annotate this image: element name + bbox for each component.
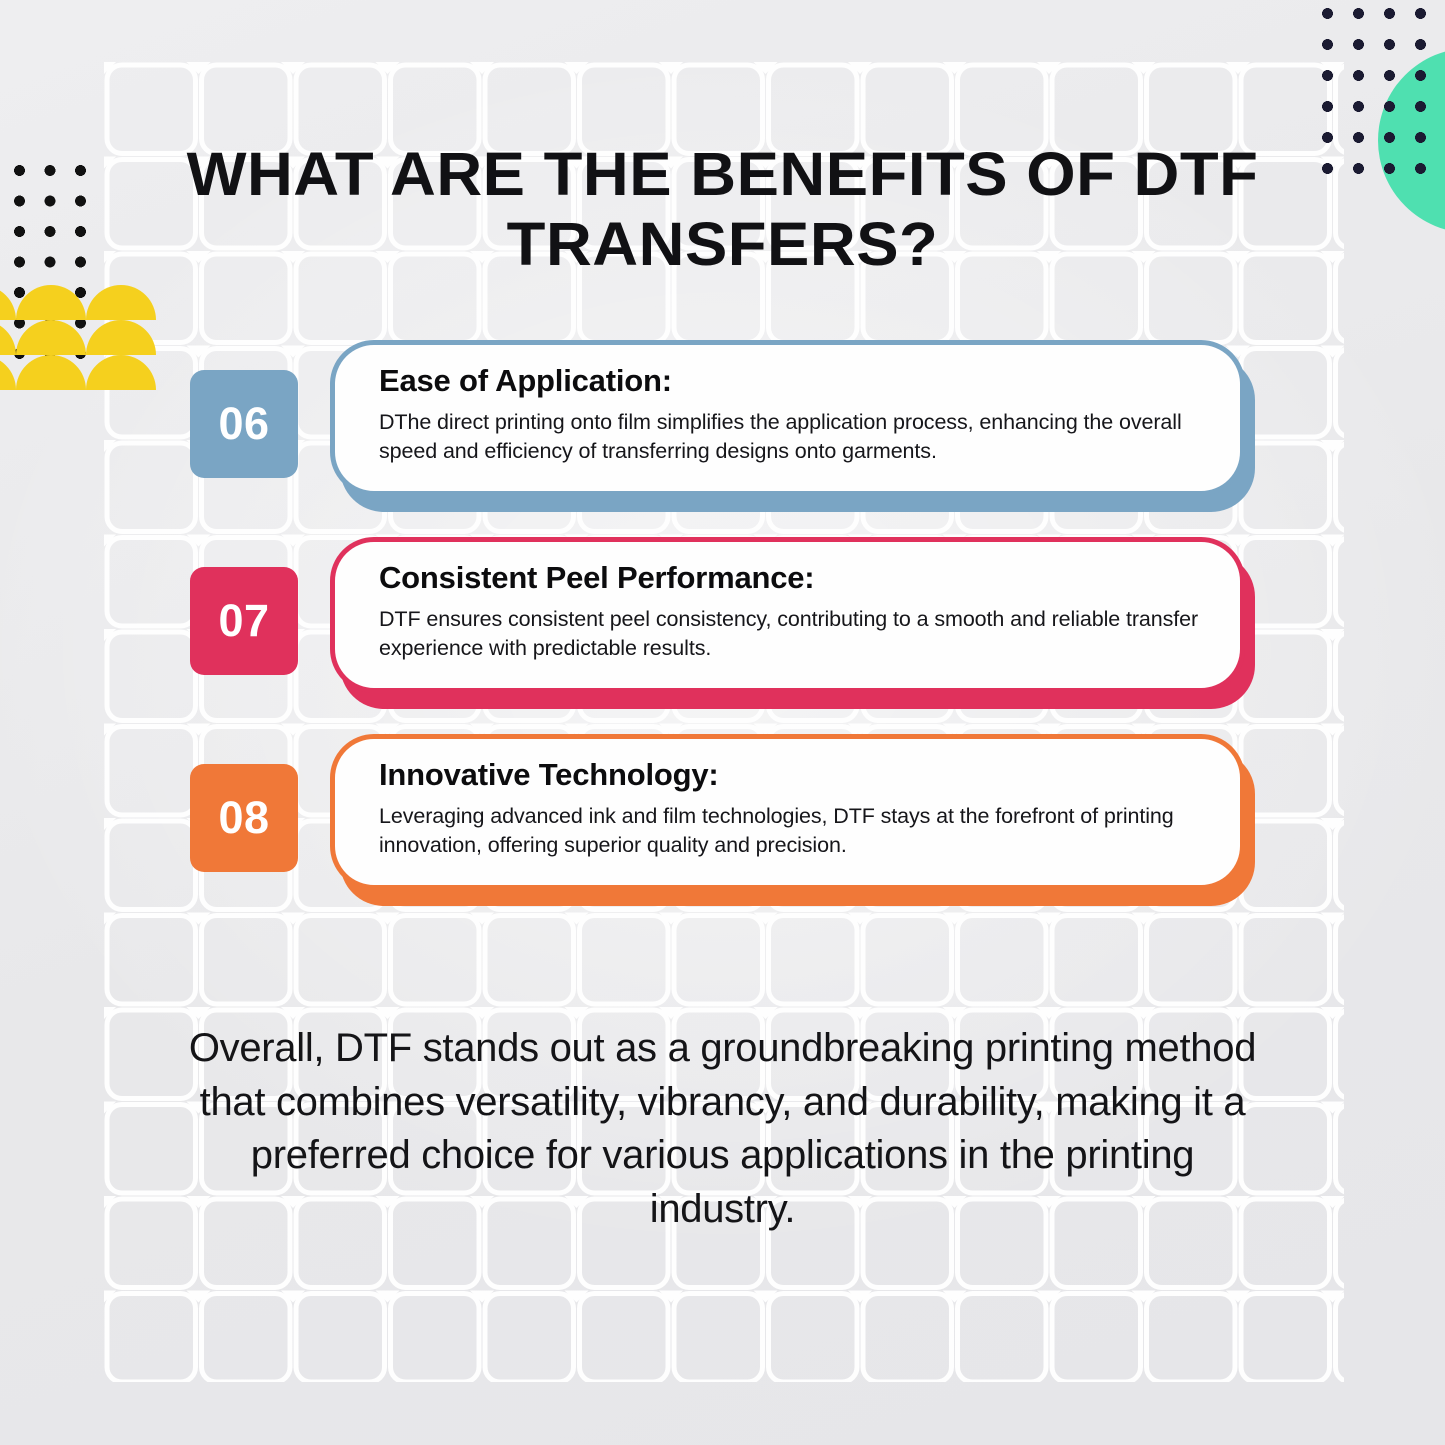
- card-bubble-06: Ease of Application: DThe direct printin…: [330, 340, 1255, 512]
- card-title: Consistent Peel Performance:: [379, 560, 1206, 596]
- card-bubble-08: Innovative Technology: Leveraging advanc…: [330, 734, 1255, 906]
- benefit-card-list: 06 Ease of Application: DThe direct prin…: [190, 340, 1270, 931]
- teal-circle-decoration: [1378, 48, 1445, 233]
- card-number-badge-06: 06: [190, 370, 298, 478]
- card-body-container: Consistent Peel Performance: DTF ensures…: [330, 537, 1245, 693]
- yellow-arch-decoration: [0, 285, 154, 390]
- card-number-badge-08: 08: [190, 764, 298, 872]
- page-title: WHAT ARE THE BENEFITS OF DTF TRANSFERS?: [138, 140, 1308, 279]
- card-description: Leveraging advanced ink and film technol…: [379, 802, 1206, 860]
- card-title: Innovative Technology:: [379, 757, 1206, 793]
- card-number-badge-07: 07: [190, 567, 298, 675]
- card-bubble-07: Consistent Peel Performance: DTF ensures…: [330, 537, 1255, 709]
- infographic-poster: WHAT ARE THE BENEFITS OF DTF TRANSFERS? …: [0, 0, 1445, 1445]
- card-description: DThe direct printing onto film simplifie…: [379, 408, 1206, 466]
- conclusion-paragraph: Overall, DTF stands out as a groundbreak…: [175, 1022, 1270, 1236]
- card-body-container: Innovative Technology: Leveraging advanc…: [330, 734, 1245, 890]
- benefit-card: 08 Innovative Technology: Leveraging adv…: [190, 734, 1270, 931]
- card-description: DTF ensures consistent peel consistency,…: [379, 605, 1206, 663]
- card-title: Ease of Application:: [379, 363, 1206, 399]
- card-body-container: Ease of Application: DThe direct printin…: [330, 340, 1245, 496]
- benefit-card: 06 Ease of Application: DThe direct prin…: [190, 340, 1270, 537]
- benefit-card: 07 Consistent Peel Performance: DTF ensu…: [190, 537, 1270, 734]
